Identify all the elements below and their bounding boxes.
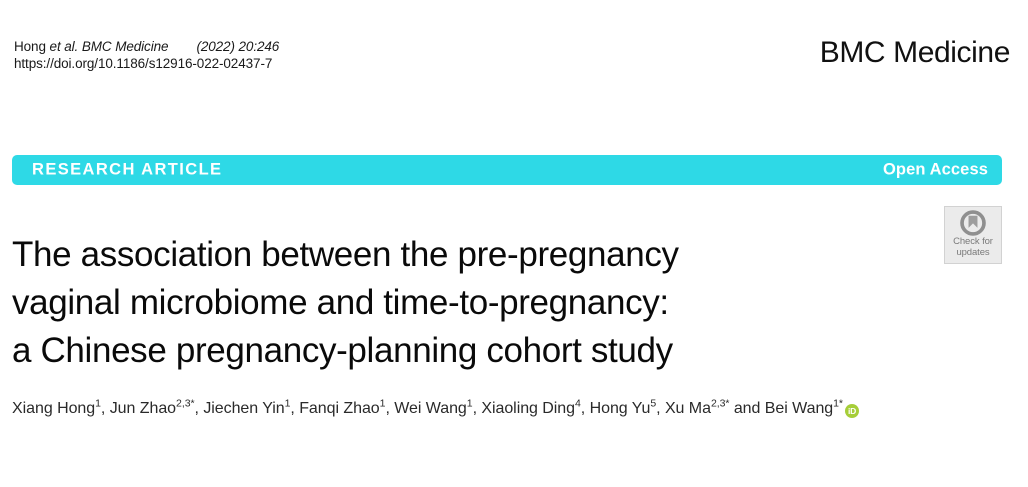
page-title-line-3: a Chinese pregnancy-planning cohort stud… (12, 327, 942, 375)
page-title-line-2: vaginal microbiome and time-to-pregnancy… (12, 279, 942, 327)
author-entry[interactable]: Xiang Hong1 (12, 400, 101, 417)
page-title-line-1: The association between the pre-pregnanc… (12, 231, 942, 279)
check-for-updates-badge[interactable]: Check for updates (944, 206, 1002, 264)
author-separator: and (729, 400, 764, 417)
author-entry[interactable]: Jiechen Yin1 (203, 400, 290, 417)
author-entry[interactable]: Bei Wang1*iD (765, 400, 859, 417)
running-head-doi[interactable]: https://doi.org/10.1186/s12916-022-02437… (14, 55, 279, 72)
author-affiliation-marker[interactable]: 2,3* (176, 398, 194, 410)
orcid-icon[interactable]: iD (845, 404, 859, 418)
author-affiliation-marker[interactable]: 1* (833, 398, 843, 410)
article-type-banner: RESEARCH ARTICLE Open Access (12, 155, 1002, 185)
article-type-label: RESEARCH ARTICLE (32, 161, 222, 180)
author-name: Xu Ma (665, 400, 711, 417)
crossmark-ring-icon (960, 210, 986, 236)
author-separator: , (385, 400, 394, 417)
running-head-journal: et al. BMC Medicine (50, 39, 169, 54)
running-head-citation: (2022) 20:246 (196, 39, 279, 54)
author-separator: , (195, 400, 204, 417)
author-entry[interactable]: Xu Ma2,3* (665, 400, 729, 417)
running-head-line-citation: Hong et al. BMC Medicine(2022) 20:246 (14, 38, 279, 55)
author-separator: , (656, 400, 665, 417)
running-head-authors: Hong (14, 39, 50, 54)
author-name: Fanqi Zhao (299, 400, 379, 417)
author-entry[interactable]: Xiaoling Ding4 (481, 400, 580, 417)
author-entry[interactable]: Hong Yu5 (590, 400, 657, 417)
author-name: Xiang Hong (12, 400, 95, 417)
author-entry[interactable]: Jun Zhao2,3* (110, 400, 195, 417)
author-separator: , (290, 400, 299, 417)
journal-masthead: BMC Medicine (820, 36, 1010, 70)
author-name: Bei Wang (765, 400, 833, 417)
author-name: Jiechen Yin (203, 400, 284, 417)
author-list: Xiang Hong1, Jun Zhao2,3*, Jiechen Yin1,… (12, 396, 972, 421)
author-name: Hong Yu (590, 400, 651, 417)
author-separator: , (101, 400, 110, 417)
author-name: Xiaoling Ding (481, 400, 575, 417)
author-name: Wei Wang (394, 400, 467, 417)
author-entry[interactable]: Wei Wang1 (394, 400, 472, 417)
check-for-updates-line-2: updates (945, 248, 1001, 259)
author-name: Jun Zhao (110, 400, 176, 417)
running-head: Hong et al. BMC Medicine(2022) 20:246 ht… (14, 38, 279, 72)
author-separator: , (581, 400, 590, 417)
open-access-label: Open Access (883, 161, 988, 180)
check-for-updates-line-1: Check for (945, 237, 1001, 248)
author-entry[interactable]: Fanqi Zhao1 (299, 400, 385, 417)
author-affiliation-marker[interactable]: 2,3* (711, 398, 729, 410)
page-title: The association between the pre-pregnanc… (12, 231, 942, 375)
